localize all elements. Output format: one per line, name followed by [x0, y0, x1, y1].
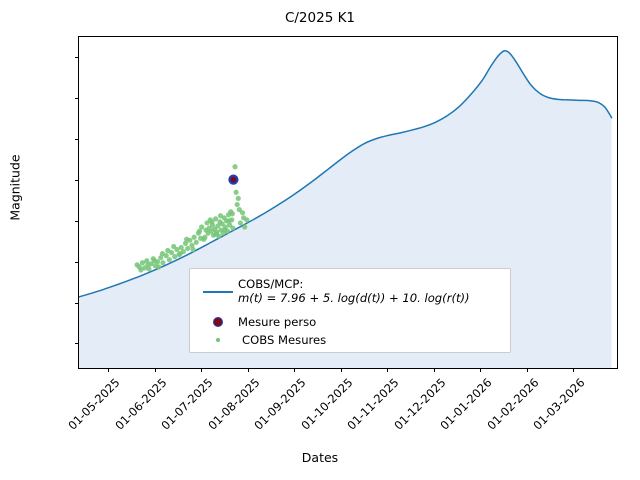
cobs-data-point	[222, 227, 227, 232]
cobs-data-point	[218, 213, 223, 218]
cobs-data-point	[160, 251, 165, 256]
cobs-data-point	[234, 190, 239, 195]
cobs-data-point	[230, 225, 235, 230]
cobs-data-point	[202, 235, 207, 240]
cobs-data-point	[160, 260, 165, 265]
cobs-data-point	[138, 267, 143, 272]
cobs-data-point	[232, 164, 237, 169]
cobs-data-point	[214, 232, 219, 237]
cobs-data-point	[209, 219, 214, 224]
cobs-data-point	[190, 247, 195, 252]
legend-model-title: COBS/MCP:	[238, 277, 303, 291]
cobs-data-point	[236, 196, 241, 201]
legend-line-swatch	[198, 277, 238, 307]
legend-item-model[interactable]: COBS/MCP: m(t) = 7.96 + 5. log(d(t)) + 1…	[198, 275, 502, 307]
cobs-data-point	[235, 202, 240, 207]
cobs-data-point	[156, 264, 161, 269]
cobs-data-point	[197, 229, 202, 234]
cobs-data-point	[178, 251, 183, 256]
legend-label-cobs-mesures: COBS Mesures	[238, 334, 502, 347]
x-axis-label: Dates	[0, 450, 640, 465]
cobs-data-point	[230, 211, 235, 216]
cobs-data-point	[185, 246, 190, 251]
legend-model-equation: m(t) = 7.96 + 5. log(d(t)) + 10. log(r(t…	[238, 291, 470, 305]
cobs-data-point	[192, 235, 197, 240]
cobs-data-point	[242, 224, 247, 229]
y-axis-label: Magnitude	[8, 128, 23, 248]
mesure-perso-data-point	[229, 176, 237, 184]
cobs-data-point	[152, 258, 157, 263]
matplotlib-figure: C/2025 K1 Magnitude Dates 81012141618202…	[0, 0, 640, 480]
chart-legend[interactable]: COBS/MCP: m(t) = 7.96 + 5. log(d(t)) + 1…	[189, 268, 511, 353]
mesure-perso-point	[229, 176, 237, 184]
cobs-data-point	[241, 215, 246, 220]
page-title: C/2025 K1	[0, 10, 640, 26]
cobs-data-point	[165, 248, 170, 253]
cobs-data-point	[171, 244, 176, 249]
legend-item-mesure-perso[interactable]: Mesure perso	[198, 313, 502, 331]
cobs-data-point	[238, 220, 243, 225]
legend-dot-swatch-perso	[198, 313, 238, 331]
cobs-data-point	[167, 257, 172, 262]
legend-dot-swatch-cobs	[198, 331, 238, 349]
cobs-data-point	[184, 237, 189, 242]
cobs-data-point	[227, 218, 232, 223]
legend-label-model: COBS/MCP: m(t) = 7.96 + 5. log(d(t)) + 1…	[238, 277, 502, 306]
cobs-data-point	[194, 240, 199, 245]
cobs-data-point	[237, 207, 242, 212]
legend-label-mesure-perso: Mesure perso	[238, 316, 502, 329]
cobs-data-point	[145, 262, 150, 267]
legend-item-cobs-mesures[interactable]: COBS Mesures	[198, 331, 502, 349]
